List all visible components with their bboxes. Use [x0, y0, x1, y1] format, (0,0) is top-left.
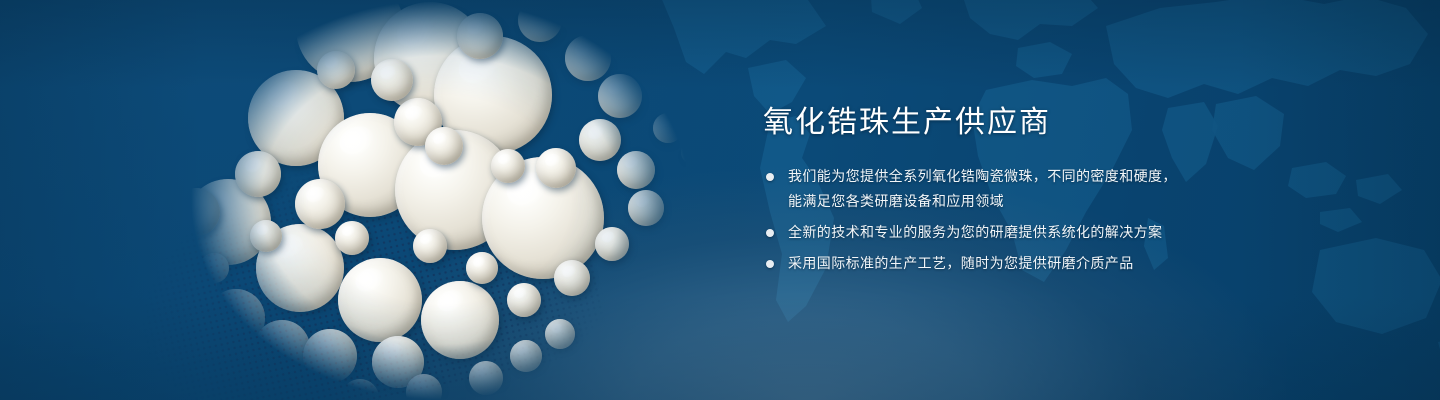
zirconia-bead: [421, 281, 499, 359]
feature-list-item-line: 能满足您各类研磨设备和应用领域: [788, 189, 1363, 214]
zirconia-bead: [209, 351, 251, 393]
feature-list-item-line: 采用国际标准的生产工艺，随时为您提供研磨介质产品: [788, 251, 1363, 276]
zirconia-bead: [518, 0, 562, 42]
zirconia-bead: [565, 35, 611, 81]
zirconia-bead: [235, 151, 281, 197]
bullet-dot-icon: [766, 229, 774, 237]
zirconia-bead: [545, 319, 575, 349]
hero-banner: 氧化锆珠生产供应商 我们能为您提供全系列氧化锆陶瓷微珠，不同的密度和硬度，能满足…: [0, 0, 1440, 400]
zirconia-bead: [491, 149, 525, 183]
zirconia-bead: [250, 220, 282, 252]
zirconia-bead: [653, 113, 683, 143]
feature-list-item-line: 我们能为您提供全系列氧化锆陶瓷微珠，不同的密度和硬度，: [788, 164, 1363, 189]
feature-list-item: 采用国际标准的生产工艺，随时为您提供研磨介质产品: [763, 251, 1363, 276]
zirconia-bead: [536, 148, 576, 188]
banner-copy: 氧化锆珠生产供应商 我们能为您提供全系列氧化锆陶瓷微珠，不同的密度和硬度，能满足…: [763, 104, 1363, 276]
zirconia-bead: [335, 221, 369, 255]
feature-list-item-line: 全新的技术和专业的服务为您的研磨提供系统化的解决方案: [788, 220, 1363, 245]
zirconia-bead: [466, 252, 498, 284]
zirconia-bead: [136, 224, 188, 276]
zirconia-bead: [156, 330, 200, 374]
zirconia-bead: [510, 340, 542, 372]
zirconia-bead: [425, 127, 463, 165]
zirconia-bead: [595, 227, 629, 261]
zirconia-bead: [317, 51, 355, 89]
zirconia-bead: [617, 151, 655, 189]
zirconia-bead: [371, 59, 413, 101]
zirconia-bead: [406, 374, 442, 400]
zirconia-bead: [457, 13, 503, 59]
zirconia-bead: [338, 258, 422, 342]
feature-list-item: 全新的技术和专业的服务为您的研磨提供系统化的解决方案: [763, 220, 1363, 245]
bullet-dot-icon: [766, 173, 774, 181]
zirconia-bead: [172, 188, 220, 236]
zirconia-bead: [507, 283, 541, 317]
zirconia-bead: [469, 361, 503, 395]
zirconia-bead: [554, 260, 590, 296]
zirconia-bead: [413, 229, 447, 263]
zirconia-bead: [641, 21, 679, 59]
zirconia-bead: [341, 379, 379, 400]
zirconia-bead: [254, 320, 310, 376]
zirconia-beads-image: [0, 0, 760, 400]
feature-list-item: 我们能为您提供全系列氧化锆陶瓷微珠，不同的密度和硬度，能满足您各类研磨设备和应用…: [763, 164, 1363, 214]
zirconia-bead: [295, 179, 345, 229]
zirconia-bead: [628, 190, 664, 226]
zirconia-bead: [579, 119, 621, 161]
bullet-dot-icon: [766, 260, 774, 268]
zirconia-bead: [199, 253, 229, 283]
zirconia-bead: [598, 74, 642, 118]
zirconia-bead: [681, 139, 707, 165]
zirconia-bead: [115, 275, 165, 325]
zirconia-bead: [671, 59, 705, 93]
page-title: 氧化锆珠生产供应商: [763, 104, 1363, 142]
feature-list: 我们能为您提供全系列氧化锆陶瓷微珠，不同的密度和硬度，能满足您各类研磨设备和应用…: [763, 164, 1363, 276]
